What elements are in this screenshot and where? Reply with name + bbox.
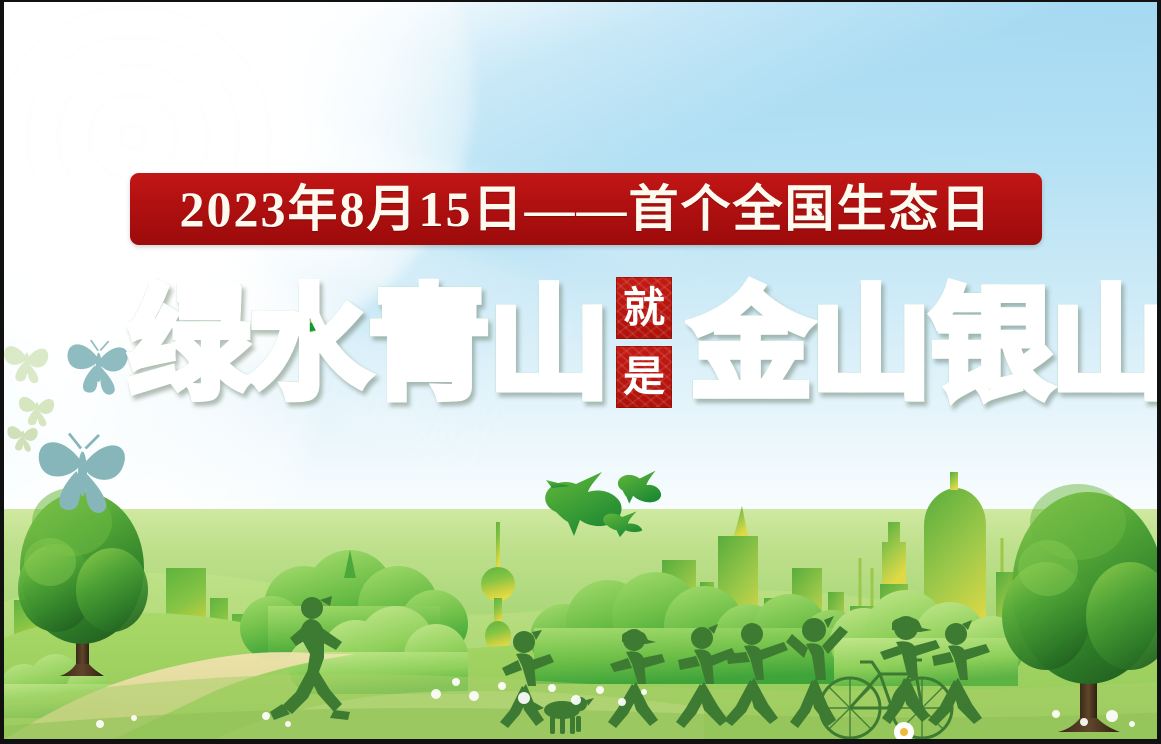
slogan-block: 绿水青山 就 是 金山银山 bbox=[128, 270, 1058, 420]
dove-medium-icon bbox=[618, 471, 661, 504]
seal-stamp-top: 就 bbox=[616, 277, 672, 339]
poster-root: 2023年8月15日——首个全国生态日 绿水青山 就 是 金山银山 bbox=[0, 0, 1161, 744]
slogan-part-1: 绿水青山 bbox=[128, 284, 608, 406]
butterfly-teal-upper-icon bbox=[68, 340, 128, 395]
butterfly-pale-mid-icon bbox=[19, 397, 54, 427]
dove-small-icon bbox=[603, 511, 642, 537]
date-banner-text: 2023年8月15日——首个全国生态日 bbox=[180, 184, 993, 234]
date-banner: 2023年8月15日——首个全国生态日 bbox=[130, 173, 1042, 245]
seal-stamp-bottom: 是 bbox=[616, 346, 672, 408]
seal-stamp-group: 就 是 bbox=[616, 277, 672, 408]
slogan-part-2: 金山银山 bbox=[690, 284, 1161, 406]
daisy-icon bbox=[894, 722, 914, 742]
butterfly-group bbox=[4, 340, 128, 513]
butterfly-pale-top-left-icon bbox=[4, 346, 48, 383]
butterfly-pale-small-icon bbox=[7, 426, 37, 452]
